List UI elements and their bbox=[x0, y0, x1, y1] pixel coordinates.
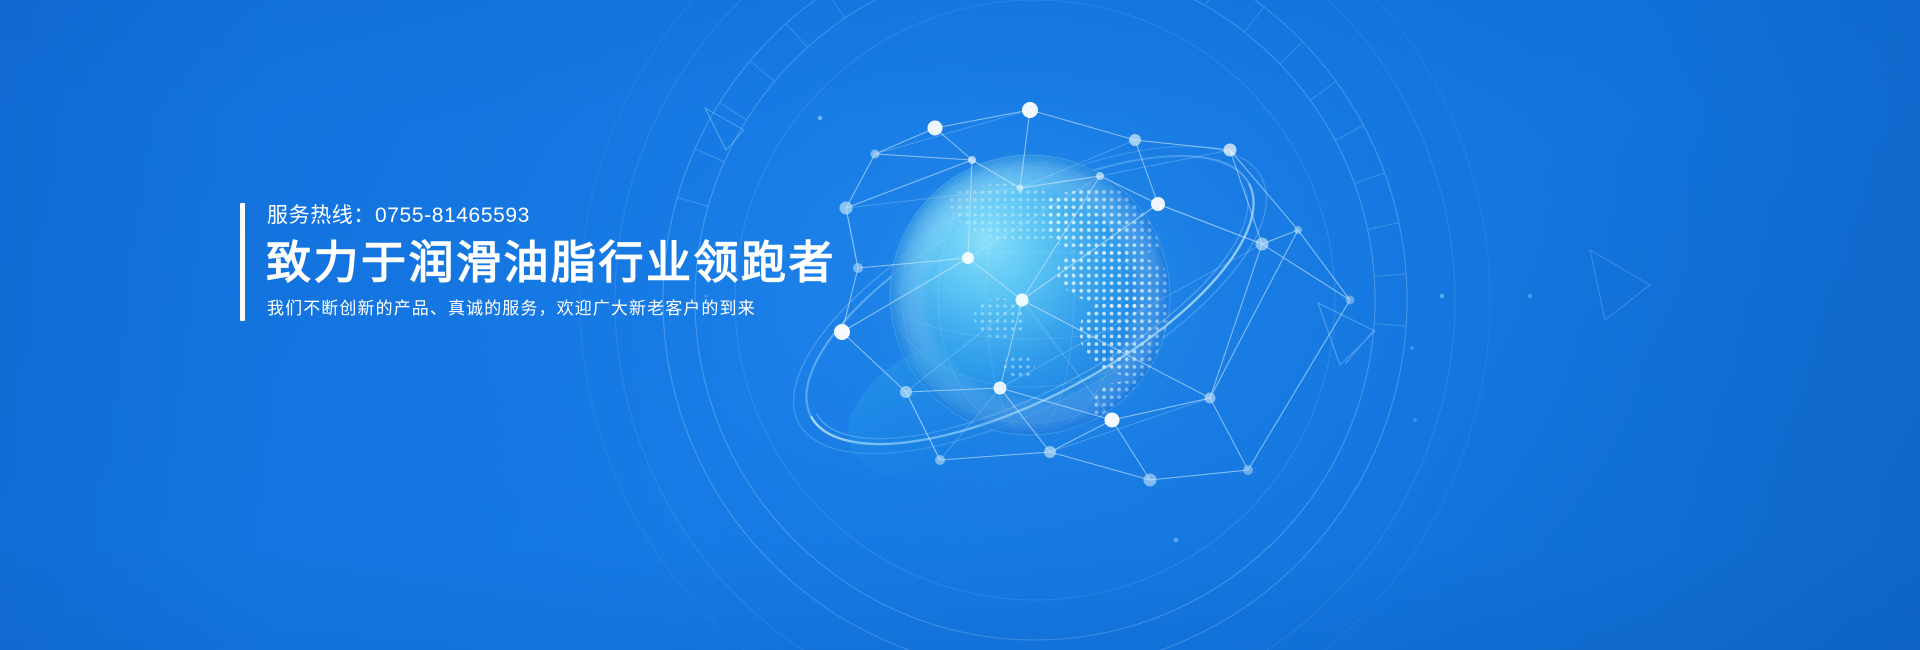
banner-text-block: 服务热线：0755-81465593 致力于润滑油脂行业领跑者 我们不断创新的产… bbox=[240, 203, 940, 321]
service-hotline: 服务热线：0755-81465593 bbox=[267, 199, 530, 233]
accent-bar bbox=[240, 203, 245, 321]
banner-subtitle: 我们不断创新的产品、真诚的服务，欢迎广大新老客户的到来 bbox=[267, 296, 756, 322]
page-title: 致力于润滑油脂行业领跑者 bbox=[266, 233, 836, 293]
background-vignette bbox=[0, 0, 1920, 650]
hero-banner: 服务热线：0755-81465593 致力于润滑油脂行业领跑者 我们不断创新的产… bbox=[0, 0, 1920, 650]
